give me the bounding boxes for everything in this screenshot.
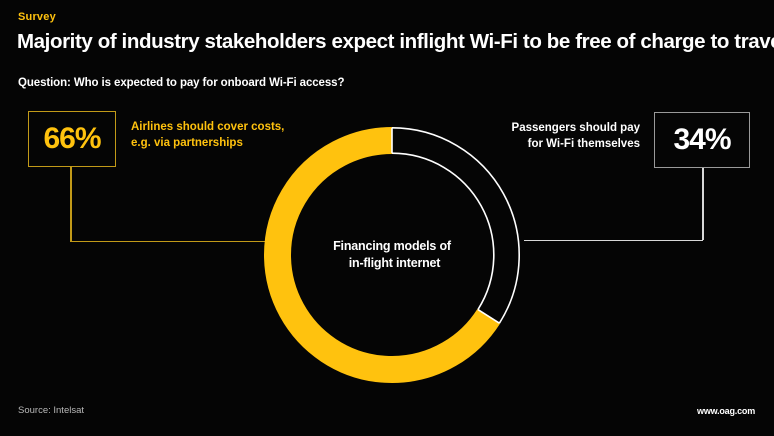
- source-label: Source: Intelsat: [18, 405, 84, 416]
- infographic-canvas: Survey Majority of industry stakeholders…: [0, 0, 774, 436]
- site-url: www.oag.com: [697, 406, 755, 416]
- donut-segment-passengers-outer-arc: [392, 128, 519, 323]
- connector-left-vertical: [70, 167, 72, 242]
- donut-segment-airlines: [278, 141, 489, 370]
- connector-left-horizontal: [70, 241, 266, 243]
- donut-chart-svg: [257, 120, 527, 390]
- stat-value-passengers: 34%: [673, 125, 730, 155]
- donut-chart: Financing models of in-flight internet: [257, 120, 527, 390]
- survey-question: Question: Who is expected to pay for onb…: [18, 77, 344, 89]
- stat-box-passengers: 34%: [654, 112, 750, 168]
- donut-segment-passengers-inner-arc: [392, 153, 494, 309]
- connector-right-vertical: [702, 168, 704, 240]
- stat-value-airlines: 66%: [43, 124, 100, 154]
- stat-box-airlines: 66%: [28, 111, 116, 167]
- page-title: Majority of industry stakeholders expect…: [17, 30, 774, 54]
- kicker-label: Survey: [18, 11, 56, 23]
- connector-right-horizontal: [524, 240, 703, 242]
